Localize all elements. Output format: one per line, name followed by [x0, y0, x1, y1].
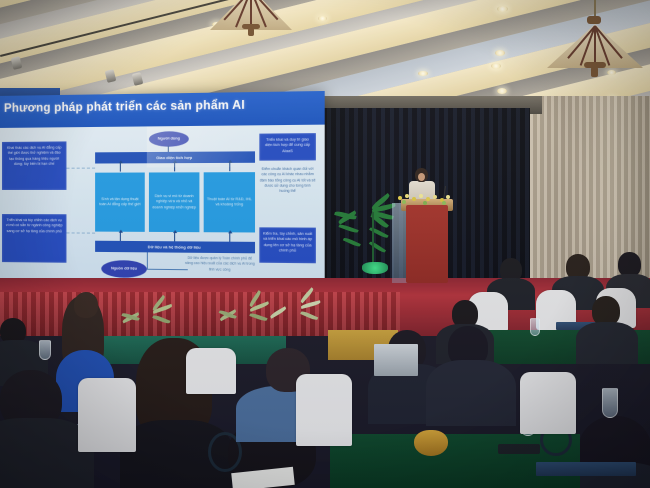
connector-left-2: [66, 232, 95, 233]
slide-title-bar: Phương pháp phát triển các sản phẩm AI: [0, 91, 325, 128]
wine-glass[interactable]: [602, 388, 618, 418]
slide-right-box-1: Triển khai và duy trì giao diện tích hợp…: [259, 133, 316, 161]
podium: [406, 205, 448, 283]
pendant-chandelier: [206, 0, 296, 38]
laptop[interactable]: [374, 344, 418, 376]
connector-datasource: [147, 252, 188, 270]
downlight: [495, 50, 505, 56]
arrow-data-to-box2: [174, 233, 175, 241]
conference-hall-scene: Phương pháp phát triển các sản phẩm AI K…: [0, 0, 650, 488]
slide-user-oval: Người dùng: [149, 131, 189, 147]
downlight: [497, 88, 507, 94]
slide-center-box-1: Sinh và tận dụng thuật toán AI đẳng cấp …: [95, 173, 145, 232]
slide-left-box-2: Triển khai và tùy chỉnh các dịch vụ vi m…: [2, 214, 67, 263]
podium-flowers: [396, 192, 452, 206]
notebook[interactable]: [536, 462, 636, 476]
connector-left-1: [66, 168, 95, 169]
slide-bottom-note: Dữ liệu được quản lý Toàn chính phủ để n…: [185, 256, 255, 273]
chair: [186, 348, 236, 394]
arrow-box2-to-bar: [174, 163, 175, 171]
chair: [78, 378, 136, 452]
chair: [520, 372, 576, 434]
attendee-head: [74, 292, 98, 318]
chair: [296, 374, 352, 446]
slide-right-box-2: Kiểm tra, tùy chỉnh, sản xuất và triển k…: [259, 227, 316, 263]
water-glass[interactable]: [39, 340, 51, 360]
projection-screen: Phương pháp phát triển các sản phẩm AI K…: [0, 91, 325, 297]
downlight: [497, 6, 508, 12]
slide-title-text: Phương pháp phát triển các sản phẩm AI: [4, 99, 245, 114]
slide-center-box-2: Dịch vụ vi mô từ doanh nghiệp vừa và nhỏ…: [149, 172, 199, 232]
attendee-shoulders: [576, 322, 638, 364]
decor-plant: [232, 300, 274, 342]
decor-plant: [283, 296, 325, 342]
speaker-face: [418, 173, 425, 181]
pendant-chandelier: [540, 0, 650, 96]
attendee-shoulders: [426, 360, 516, 426]
arrow-data-to-box1: [120, 233, 121, 241]
slide-right-note: Điểm chuẩn khách quan đối với các công c…: [259, 167, 316, 195]
downlight: [491, 63, 501, 69]
water-glass[interactable]: [530, 318, 540, 336]
teapot[interactable]: [414, 430, 448, 456]
slide-datasource-oval: Nguồn dữ liệu: [101, 260, 147, 278]
slide-left-box-1: Khai thác các dịch vụ AI đẳng cấp thế gi…: [2, 141, 67, 190]
downlight: [318, 16, 327, 21]
arrow-box3-to-bar: [229, 163, 230, 171]
arrow-box1-to-bar: [120, 163, 121, 171]
downlight: [418, 71, 428, 76]
arrow-data-to-box3: [229, 233, 230, 241]
slide-center-box-3: Thuật toán AI từ R&D, IHL và khoảng trốn…: [204, 172, 255, 232]
phone[interactable]: [498, 444, 540, 454]
slide-body: Khai thác các dịch vụ AI đẳng cấp thế gi…: [0, 125, 325, 297]
slide-data-bar: Dữ liệu và hệ thống dữ liệu: [95, 241, 255, 254]
stage-palm-plant: [352, 200, 396, 280]
